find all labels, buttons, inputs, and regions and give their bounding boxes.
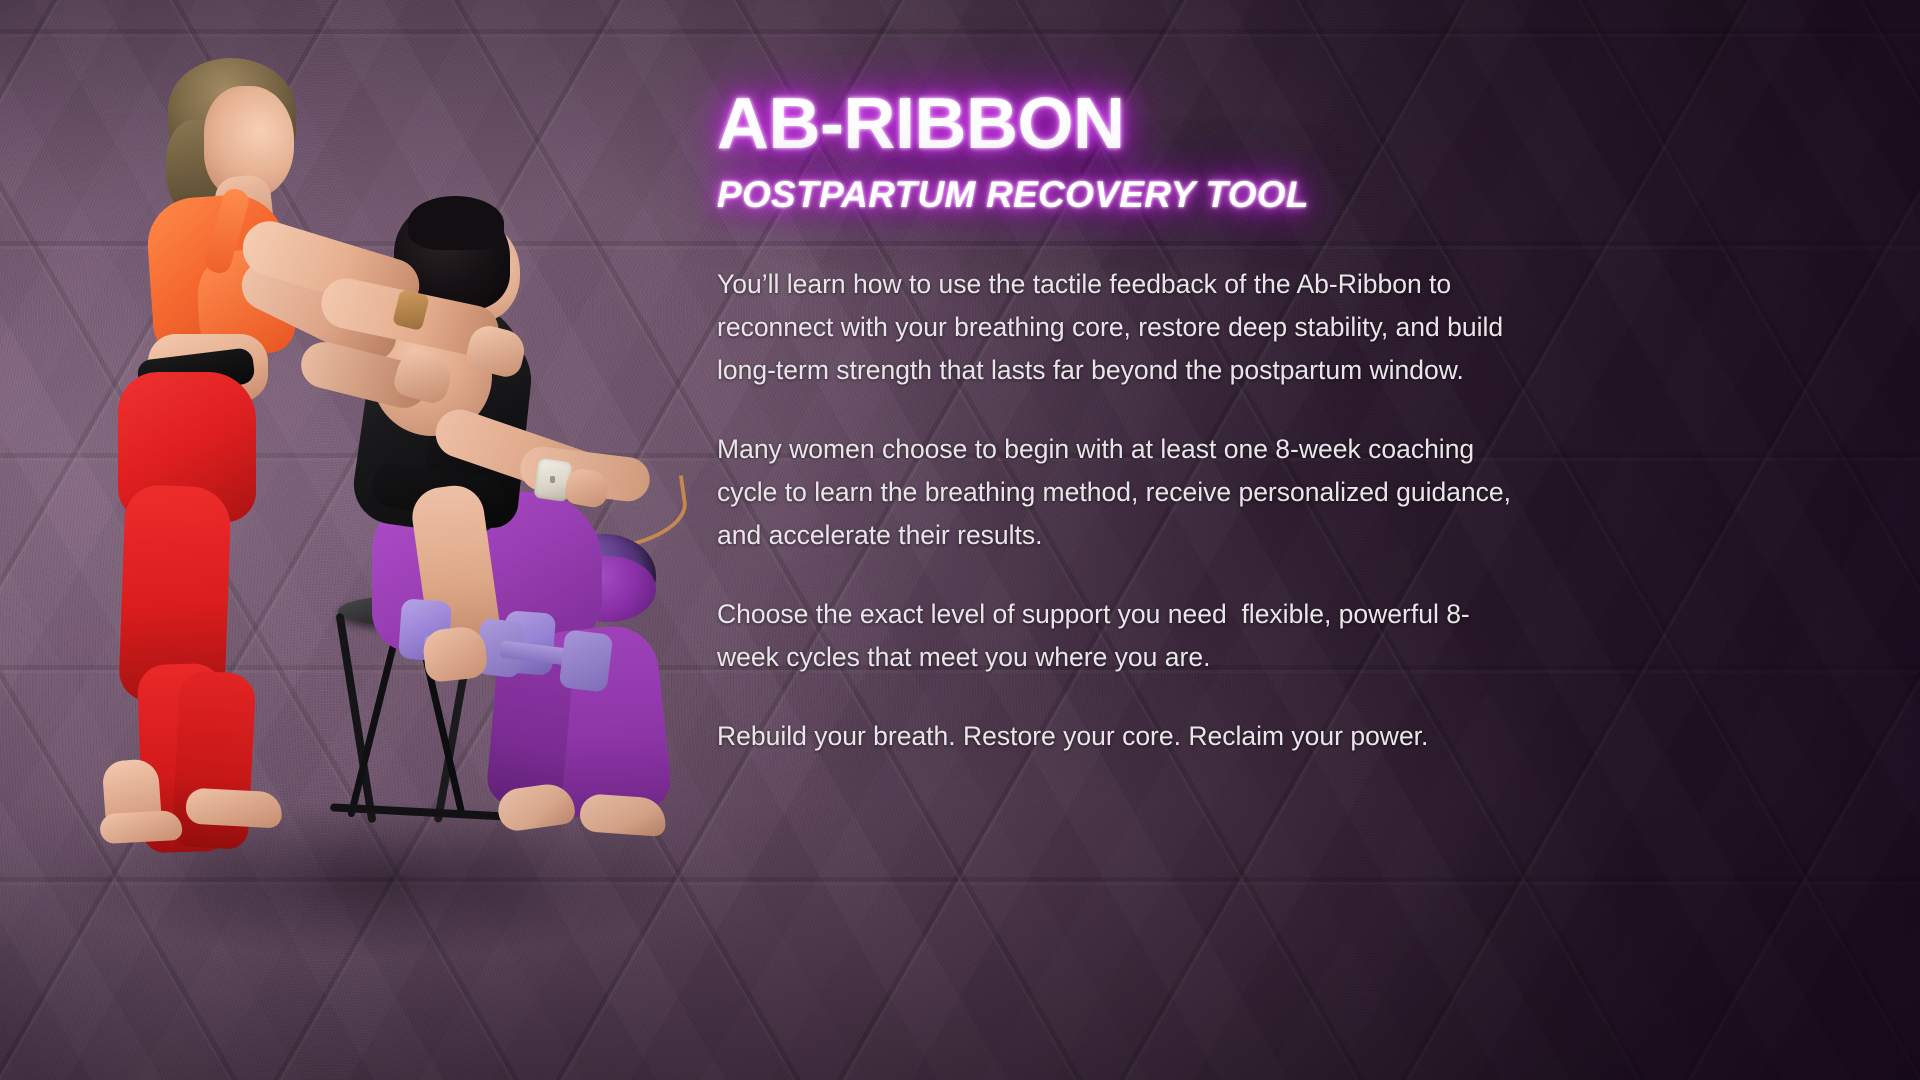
trainer-foot	[185, 788, 283, 829]
client-left-hand-grip	[421, 625, 488, 683]
page-subtitle: POSTPARTUM RECOVERY TOOL	[717, 176, 1527, 215]
paragraph-support: Choose the exact level of support you ne…	[717, 593, 1527, 679]
photo-cutout-figures	[0, 0, 740, 1080]
wrist-brace-fastener	[550, 476, 555, 483]
paragraph-coaching: Many women choose to begin with at least…	[717, 428, 1527, 557]
dumbbell-head	[559, 629, 614, 692]
page-title: AB-RIBBON	[717, 88, 1527, 160]
client-hair-top	[408, 196, 504, 250]
text-column: AB-RIBBON POSTPARTUM RECOVERY TOOL You’l…	[717, 88, 1527, 758]
paragraph-overview: You’ll learn how to use the tactile feed…	[717, 263, 1527, 392]
body-copy: You’ll learn how to use the tactile feed…	[717, 263, 1527, 758]
paragraph-tagline: Rebuild your breath. Restore your core. …	[717, 715, 1527, 758]
promo-slide: AB-RIBBON POSTPARTUM RECOVERY TOOL You’l…	[0, 0, 1920, 1080]
trainer-foot-sole	[99, 810, 182, 844]
